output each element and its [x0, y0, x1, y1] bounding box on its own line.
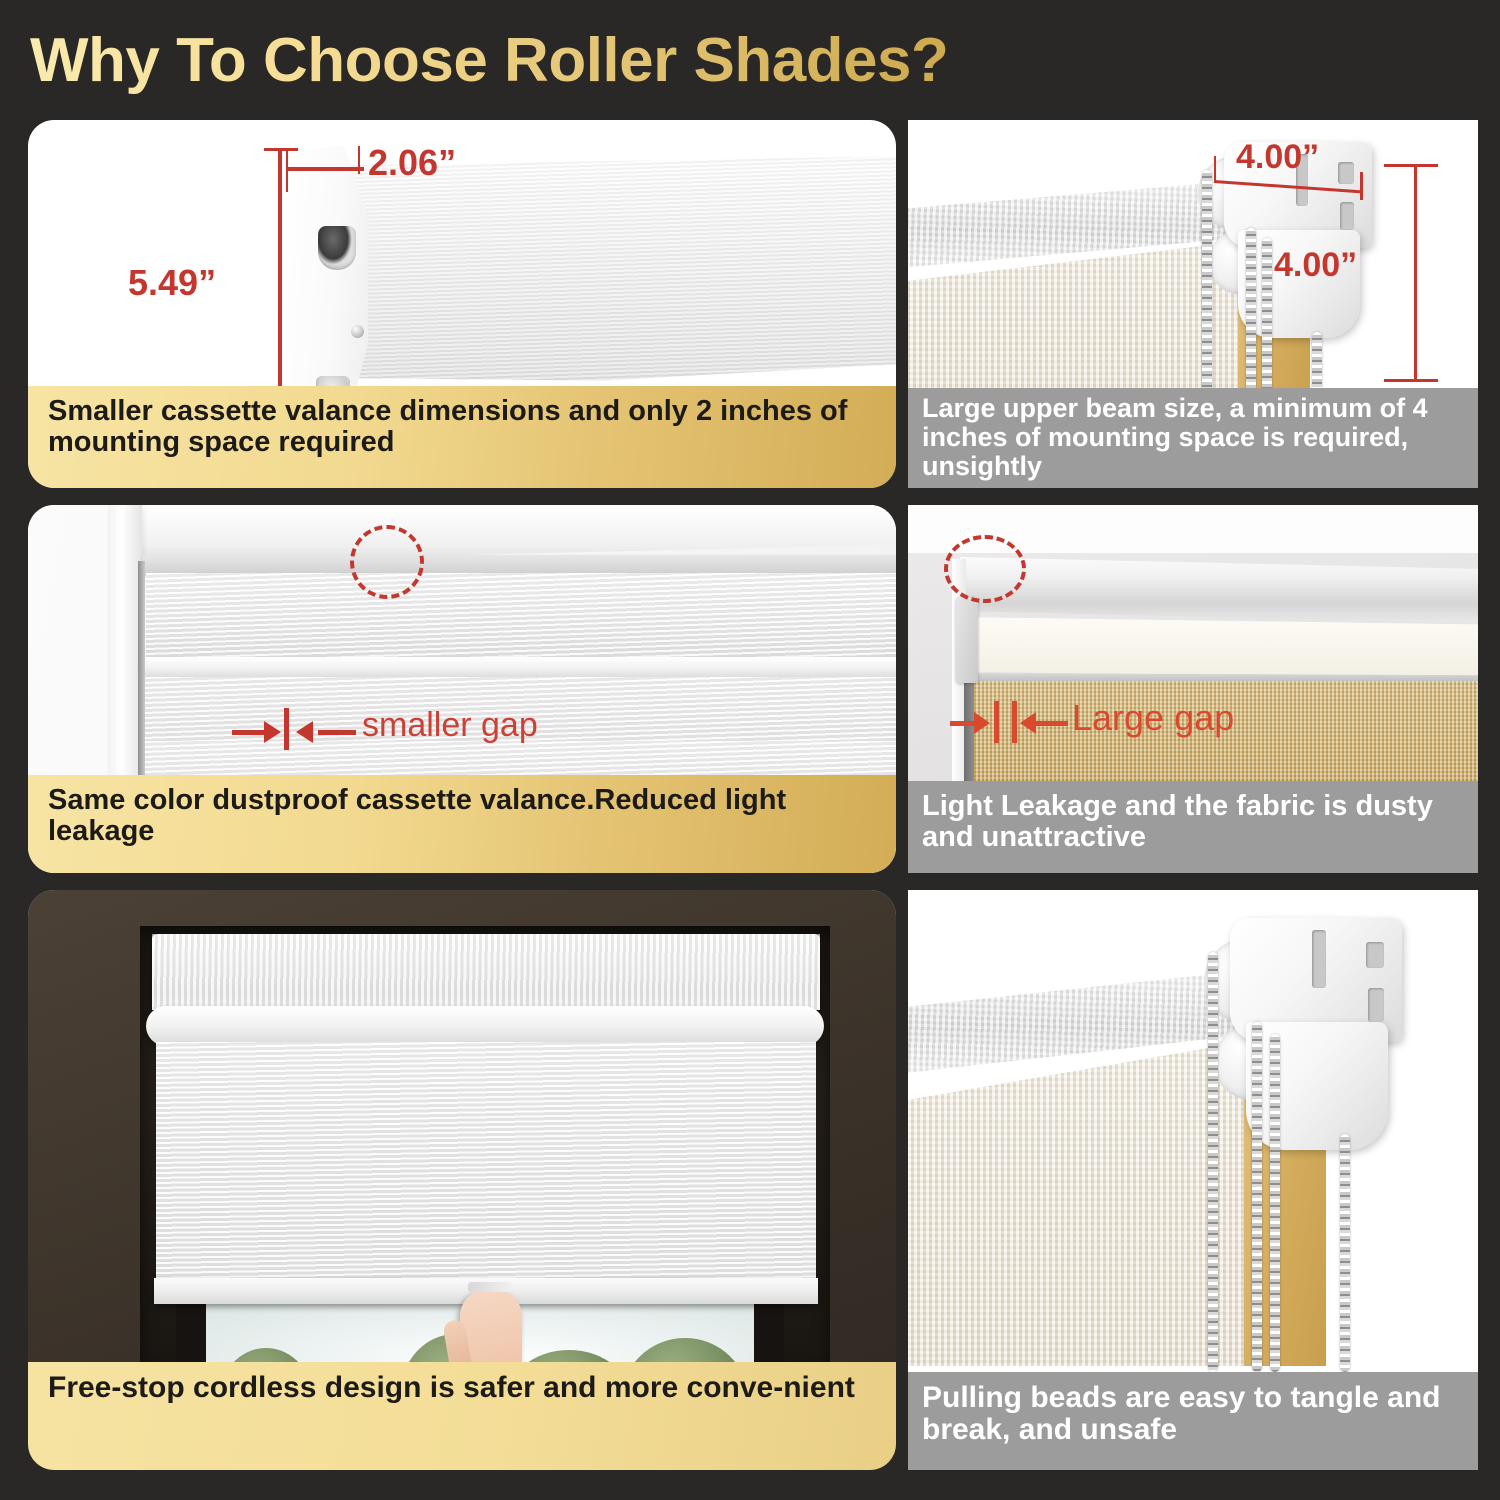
bead-chain-b [1252, 1022, 1262, 1372]
gap-measure-tick [284, 708, 289, 750]
highlight-circle-gap [944, 535, 1026, 603]
dimension-label-height: 5.49” [128, 262, 216, 304]
highlight-circle-seal [350, 525, 424, 599]
shade-mid-bar [140, 657, 896, 679]
panel-3-caption: Same color dustproof cassette valance.Re… [28, 775, 896, 873]
panel-6-caption: Pulling beads are easy to tangle and bre… [908, 1372, 1478, 1470]
dimension-label-beam-width: 4.00” [1236, 138, 1319, 177]
bracket-slot-c [1312, 930, 1326, 988]
bead-chain-c [1270, 1034, 1280, 1372]
cassette-headrail [142, 555, 896, 575]
bracket-lower-large [1246, 1022, 1388, 1150]
dimension-label-width: 2.06” [368, 142, 456, 184]
large-gap-arrow-right-shaft [1036, 721, 1068, 726]
side-mounting-clip [956, 597, 978, 683]
dim2-arrow-vertical [1414, 164, 1417, 382]
window-frame-left [108, 505, 142, 775]
dim2-tick-left [1214, 156, 1216, 182]
panel-1-caption: Smaller cassette valance dimensions and … [28, 386, 896, 488]
panel-pulling-beads: Pulling beads are easy to tangle and bre… [908, 890, 1478, 1470]
annotation-large-gap: Large gap [1072, 697, 1234, 739]
dim2-tick-right [1360, 172, 1363, 200]
bracket-screw [351, 325, 364, 338]
dim-arrow-horizontal [286, 167, 364, 171]
dim2-tick-bottom [1384, 379, 1438, 382]
panel-2-caption: Large upper beam size, a minimum of 4 in… [908, 388, 1478, 488]
bracket-clutch-knob [318, 226, 356, 270]
annotation-smaller-gap: smaller gap [362, 706, 538, 745]
bracket-slot-a [1366, 942, 1384, 968]
panel-cassette-dimensions: 2.06” 5.49” Smaller cassette valance dim… [28, 120, 896, 488]
panel-4-caption: Light Leakage and the fabric is dusty an… [908, 781, 1478, 873]
bracket-slot-2 [1340, 202, 1354, 230]
large-gap-tick-1 [994, 701, 999, 743]
panel-large-gap: Large gap Light Leakage and the fabric i… [908, 505, 1478, 873]
gap-arrow-right-shaft [318, 730, 356, 735]
cream-fabric-roll [960, 617, 1478, 679]
dim-tick-top [264, 148, 298, 151]
panel-cordless-design: Free-stop cordless design is safer and m… [28, 890, 896, 1470]
bracket-slot-1 [1338, 162, 1354, 184]
panel-large-beam: 4.00” 4.00” Large upper beam size, a min… [908, 120, 1478, 488]
large-gap-arrow-left-head [974, 712, 990, 734]
gap-arrow-right-head [296, 721, 313, 743]
cassette-body [328, 156, 896, 396]
cassette-valance [152, 934, 820, 1010]
panel-smaller-gap: smaller gap Same color dustproof cassett… [28, 505, 896, 873]
panel-5-caption: Free-stop cordless design is safer and m… [28, 1362, 896, 1470]
bracket-slot-b [1368, 988, 1384, 1022]
title-bar: Why To Choose Roller Shades? [30, 22, 1040, 100]
gap-arrow-left-head [264, 721, 281, 743]
bead-chain-a [1208, 952, 1218, 1372]
shade-left-edge [138, 561, 145, 801]
page-title: Why To Choose Roller Shades? [30, 22, 1040, 100]
dimension-label-beam-height: 4.00” [1274, 246, 1357, 285]
bottom-rail-grip [468, 1282, 512, 1292]
dim-tick-left [286, 150, 288, 192]
large-gap-arrow-right-head [1020, 712, 1036, 734]
large-gap-tick-2 [1012, 701, 1017, 743]
bead-chain-d [1340, 1134, 1350, 1372]
shade-section-upper [146, 573, 896, 659]
dim2-tick-top [1384, 164, 1438, 167]
roller-shade-fabric [156, 1042, 816, 1282]
cassette-front-lip [146, 1006, 824, 1046]
